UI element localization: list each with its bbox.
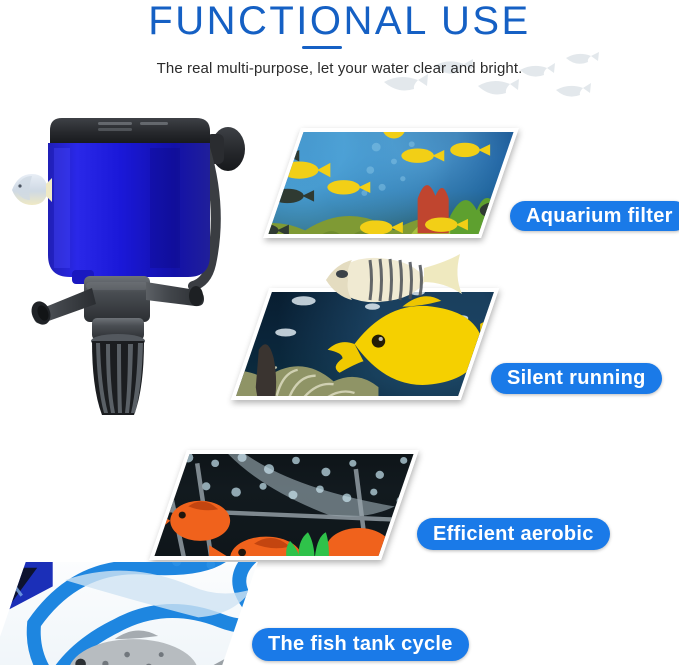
feature-badge-aquarium-filter[interactable]: Aquarium filter [510,201,679,231]
feature-photo-aquarium-filter [263,128,519,238]
promo-banner: FUNCTIONAL USE The real multi-purpose, l… [0,0,679,665]
butterflyfish-decoration [318,250,464,312]
page-subtitle: The real multi-purpose, let your water c… [0,59,679,79]
feature-badge-efficient-aerobic[interactable]: Efficient aerobic [417,518,610,550]
feature-photo-efficient-aerobic [149,450,419,560]
angelfish-decoration [6,166,52,212]
product-pump-image [0,110,270,415]
pump-intake-strainer [91,334,145,415]
feature-photo-fish-tank-cycle [0,562,258,665]
pump-blue-housing [48,143,210,277]
feature-badge-silent-running[interactable]: Silent running [491,363,662,394]
feature-badge-fish-tank-cycle[interactable]: The fish tank cycle [252,628,469,661]
page-title: FUNCTIONAL USE [0,0,679,44]
title-divider [302,46,342,49]
